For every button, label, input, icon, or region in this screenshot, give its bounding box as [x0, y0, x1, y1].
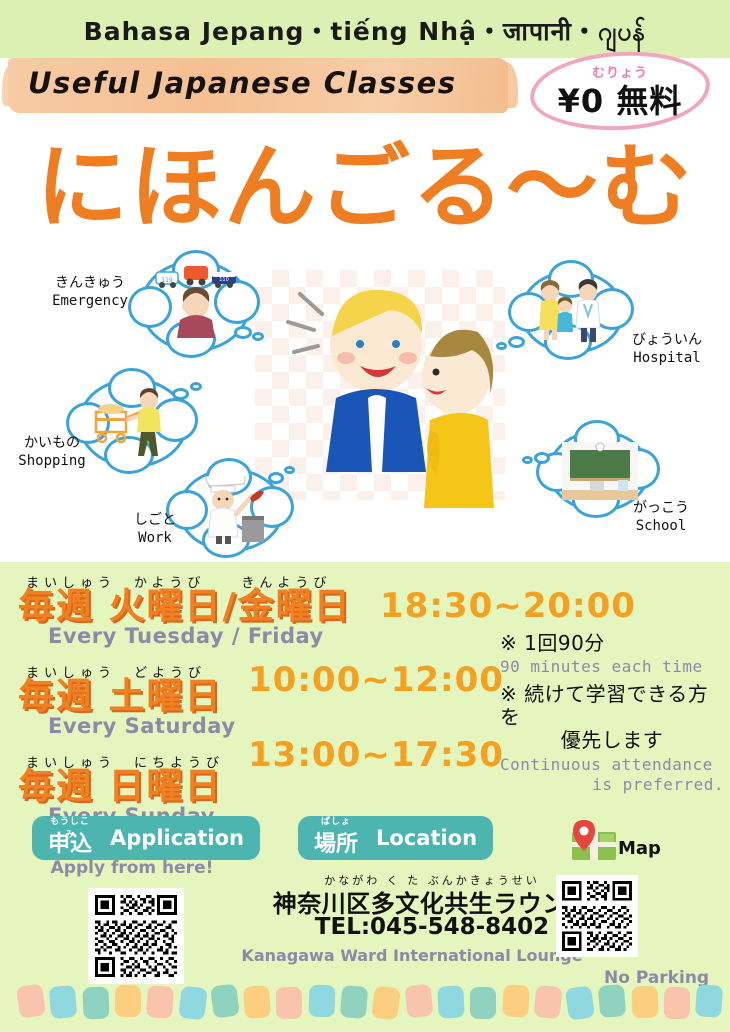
note-2-en-line2: is preferred.: [500, 775, 724, 795]
note-2-jp-line1: ※ 続けて学習できる方を: [500, 683, 724, 729]
location-furigana: ばしょ: [314, 814, 358, 827]
bubble-emergency-tail-2: [252, 332, 264, 341]
map-label: Map: [618, 838, 661, 859]
telephone-number: TEL:045-548-8402: [272, 914, 592, 940]
apply-from-here-text: Apply from here!: [32, 858, 232, 878]
classroom-blackboard-icon: [560, 440, 640, 502]
footer-decoration: [0, 984, 730, 1024]
people-talking-illustration: [280, 280, 500, 510]
bubble-shopping-tail-2: [190, 382, 202, 391]
schedule-day-en: Every Tuesday / Friday: [18, 624, 518, 648]
address-en: Kanagawa Ward International Lounge: [232, 946, 592, 965]
footer-dot: [210, 984, 240, 1019]
footer-dot: [178, 986, 208, 1021]
note-2-jp-line2: 優先します: [500, 729, 724, 752]
language-list-text: Bahasa Jepang・tiếng Nhậ・जापानी・ဂျပန်: [0, 12, 730, 53]
topic-jp-emergency: きんきゅう: [30, 275, 150, 293]
topic-label-shopping: かいもの Shopping: [0, 435, 112, 470]
note-1-jp: ※ 1回90分: [500, 632, 724, 655]
illustration-area: 119 110 きんきゅう Emergency: [0, 250, 730, 562]
schedule-time-3: 13:00~17:30: [248, 735, 504, 775]
application-furigana: もうしこみ: [48, 814, 92, 840]
topic-en-work: Work: [100, 530, 210, 548]
topic-en-hospital: Hospital: [612, 350, 722, 368]
topic-jp-work: しごと: [100, 512, 210, 530]
footer-dot: [16, 983, 46, 1018]
svg-text:110: 110: [219, 277, 229, 283]
footer-dot: [371, 985, 401, 1020]
footer-dot: [598, 984, 627, 1018]
application-en-label: Application: [110, 826, 244, 850]
topic-label-hospital: びょういん Hospital: [612, 332, 722, 367]
topic-label-school: がっこう School: [606, 500, 716, 535]
footer-dot: [340, 985, 369, 1019]
location-jp-text: 場所: [314, 832, 358, 857]
topic-en-emergency: Emergency: [30, 293, 150, 311]
location-en-label: Location: [376, 826, 477, 850]
topic-jp-shopping: かいもの: [0, 435, 112, 453]
footer-dot: [470, 987, 496, 1019]
bubble-school-tail-2: [522, 456, 533, 464]
application-badge[interactable]: もうしこみ 申込 Application: [32, 816, 260, 860]
note-2-en-line1: Continuous attendance: [500, 755, 724, 775]
footer-dot: [437, 985, 465, 1018]
schedule-time-2: 10:00~12:00: [248, 660, 504, 700]
footer-dot: [631, 986, 658, 1019]
page-title: にほんごる〜む: [0, 142, 730, 234]
map-qr-code[interactable]: [556, 875, 638, 957]
map-qr-graphic: [562, 881, 632, 951]
footer-dot: [695, 984, 723, 1018]
footer-dot: [82, 987, 109, 1020]
footer-dot: [533, 985, 562, 1020]
application-qr-code[interactable]: [88, 888, 184, 984]
banner-title: Useful Japanese Classes: [28, 66, 457, 100]
footer-dot: [49, 985, 78, 1019]
application-jp-label: もうしこみ 申込: [48, 818, 92, 858]
note-1-en: 90 minutes each time: [500, 657, 724, 677]
footer-dot: [664, 987, 691, 1019]
footer-dot: [502, 984, 530, 1017]
svg-text:119: 119: [161, 277, 173, 284]
schedule-time-1: 18:30~20:00: [380, 586, 636, 626]
location-badge[interactable]: ばしょ 場所 Location: [298, 816, 493, 860]
footer-dot: [565, 985, 595, 1020]
footer-dot: [276, 987, 303, 1019]
topic-en-school: School: [606, 518, 716, 536]
bubble-school-tail-1: [534, 452, 550, 464]
footer-dot: [146, 985, 174, 1019]
topic-label-work: しごと Work: [100, 512, 210, 547]
emergency-call-icon: 119 110: [150, 262, 242, 340]
poster: Bahasa Jepang・tiếng Nhậ・जापानी・ဂျပန် Use…: [0, 0, 730, 1032]
footer-dot: [243, 985, 271, 1019]
application-qr-graphic: [95, 895, 177, 977]
footer-dot: [115, 985, 142, 1017]
topic-jp-hospital: びょういん: [612, 332, 722, 350]
topic-label-emergency: きんきゅう Emergency: [30, 275, 150, 310]
free-badge: むりょう ¥0 無料: [530, 52, 710, 130]
notes-block: ※ 1回90分 90 minutes each time ※ 続けて学習できる方…: [500, 632, 724, 795]
doctor-patient-icon: [530, 278, 614, 348]
map-pin-icon: [568, 820, 620, 864]
topic-jp-school: がっこう: [606, 500, 716, 518]
footer-dot: [308, 985, 335, 1018]
footer-dot: [404, 984, 433, 1019]
free-badge-text: ¥0 無料: [530, 76, 710, 122]
bubble-hospital-tail-1: [508, 336, 525, 348]
topic-en-shopping: Shopping: [0, 453, 112, 471]
location-jp-label: ばしょ 場所: [314, 818, 358, 858]
